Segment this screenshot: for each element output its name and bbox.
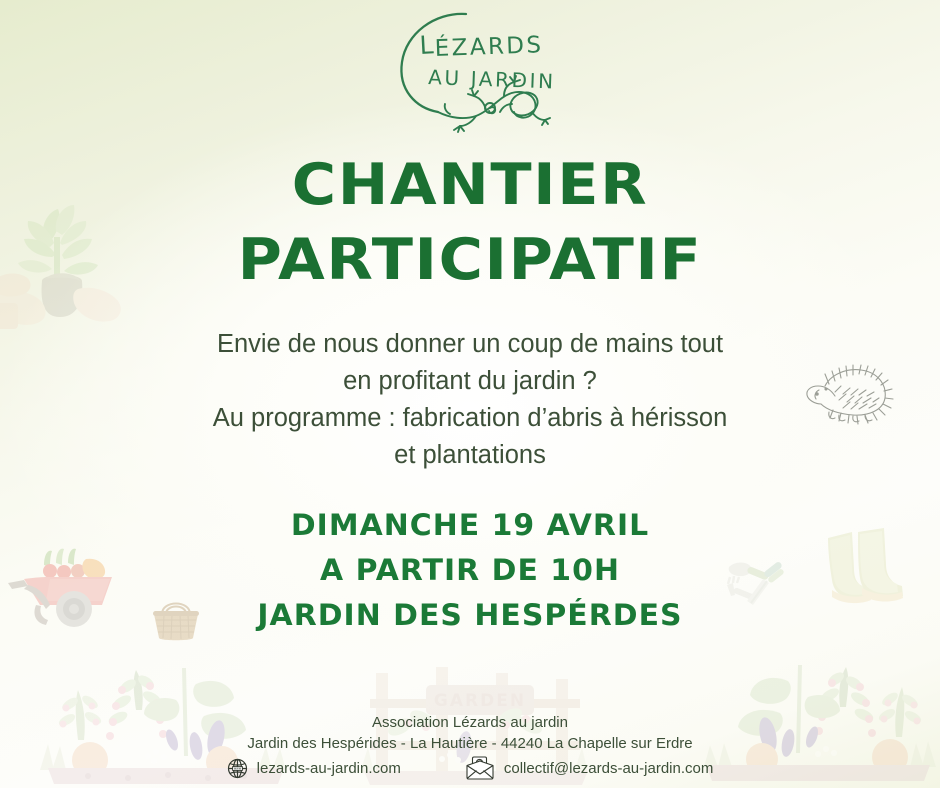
envelope-at-icon	[465, 756, 495, 780]
email-address[interactable]: collectif@lezards-au-jardin.com	[504, 758, 713, 779]
poster-canvas: GARDEN	[0, 0, 940, 788]
website-contact[interactable]: www lezards-au-jardin.com	[227, 758, 401, 779]
globe-icon: www	[227, 758, 248, 779]
event-place: JARDIN DES HESPÉRDES	[0, 593, 940, 638]
event-date: DIMANCHE 19 AVRIL	[0, 503, 940, 548]
description-line-1: Envie de nous donner un coup de mains to…	[120, 326, 820, 363]
email-contact[interactable]: collectif@lezards-au-jardin.com	[465, 756, 713, 780]
svg-text:GARDEN: GARDEN	[434, 691, 526, 711]
headline-line-2: PARTICIPATIF	[0, 223, 940, 298]
svg-text:www: www	[233, 766, 241, 770]
event-time: A PARTIR DE 10H	[0, 548, 940, 593]
description-line-3: Au programme : fabrication d’abris à hér…	[120, 400, 820, 437]
website-url[interactable]: lezards-au-jardin.com	[257, 758, 401, 779]
poster-footer: Association Lézards au jardin Jardin des…	[0, 712, 940, 780]
footer-association: Association Lézards au jardin	[0, 712, 940, 733]
description-line-4: et plantations	[120, 437, 820, 474]
poster-description: Envie de nous donner un coup de mains to…	[120, 326, 820, 474]
footer-contacts: www lezards-au-jardin.com	[0, 756, 940, 780]
poster-headline: CHANTIER PARTICIPATIF	[0, 148, 940, 298]
description-line-2: en profitant du jardin ?	[120, 363, 820, 400]
event-details: DIMANCHE 19 AVRIL A PARTIR DE 10H JARDIN…	[0, 503, 940, 638]
svg-text:ÉZARDS: ÉZARDS	[434, 30, 544, 62]
lezards-au-jardin-logo: L ÉZARDS AU JARDIN	[390, 8, 555, 136]
footer-address: Jardin des Hespérides - La Hautière - 44…	[0, 733, 940, 754]
svg-text:AU JARDIN: AU JARDIN	[428, 65, 555, 93]
headline-line-1: CHANTIER	[0, 148, 940, 223]
